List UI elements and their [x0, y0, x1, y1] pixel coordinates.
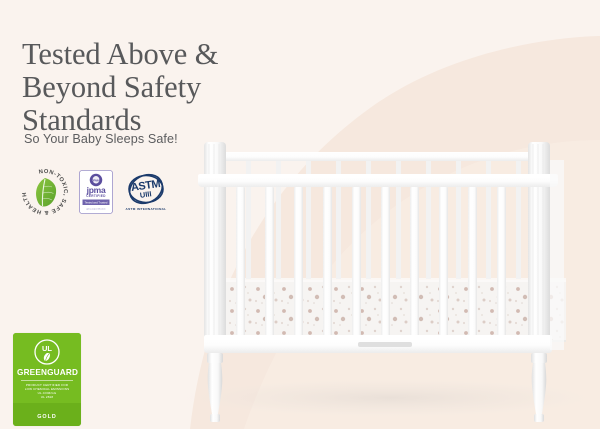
- headline-line-2: Beyond Safety: [22, 71, 322, 104]
- svg-text:UIII: UIII: [139, 189, 152, 200]
- non-toxic-safe-healthy-badge: NON-TOXIC, SAFE & HEALTHY: [20, 167, 70, 217]
- astm-international-badge: ASTM UIII ASTM INTERNATIONAL: [122, 170, 170, 214]
- safety-standards-banner: Tested Above & Beyond Safety Standards S…: [0, 0, 600, 429]
- crib-product-image: [150, 130, 600, 429]
- headline-line-1: Tested Above &: [22, 38, 322, 71]
- certification-badge-row: NON-TOXIC, SAFE & HEALTHY JPMA jpma CERT…: [20, 167, 170, 217]
- leaf-icon: [36, 178, 56, 207]
- greenguard-divider: [21, 380, 73, 381]
- greenguard-gold-badge: UL GREENGUARD PRODUCT CERTIFIED FOR LOW …: [13, 333, 81, 426]
- subtitle: So Your Baby Sleeps Safe!: [24, 132, 178, 146]
- greenguard-fineprint-line-4: UL 2818: [17, 395, 77, 399]
- page-title: Tested Above & Beyond Safety Standards: [22, 38, 322, 137]
- jpma-certified-badge: JPMA jpma CERTIFIED Tested and Trusted j…: [79, 170, 113, 214]
- svg-text:CERTIFIED: CERTIFIED: [86, 194, 106, 198]
- ul-leaf-icon: UL: [34, 339, 60, 365]
- svg-text:jpma: jpma: [86, 185, 106, 195]
- greenguard-main-panel: UL GREENGUARD PRODUCT CERTIFIED FOR LOW …: [13, 333, 81, 403]
- greenguard-level-band: GOLD: [13, 403, 81, 426]
- svg-text:Tested and Trusted: Tested and Trusted: [85, 201, 108, 205]
- svg-text:ASTM INTERNATIONAL: ASTM INTERNATIONAL: [126, 207, 167, 211]
- svg-text:UL: UL: [42, 344, 52, 353]
- svg-text:JPMA: JPMA: [92, 179, 101, 183]
- greenguard-title: GREENGUARD: [17, 368, 77, 377]
- greenguard-level-label: GOLD: [37, 414, 57, 420]
